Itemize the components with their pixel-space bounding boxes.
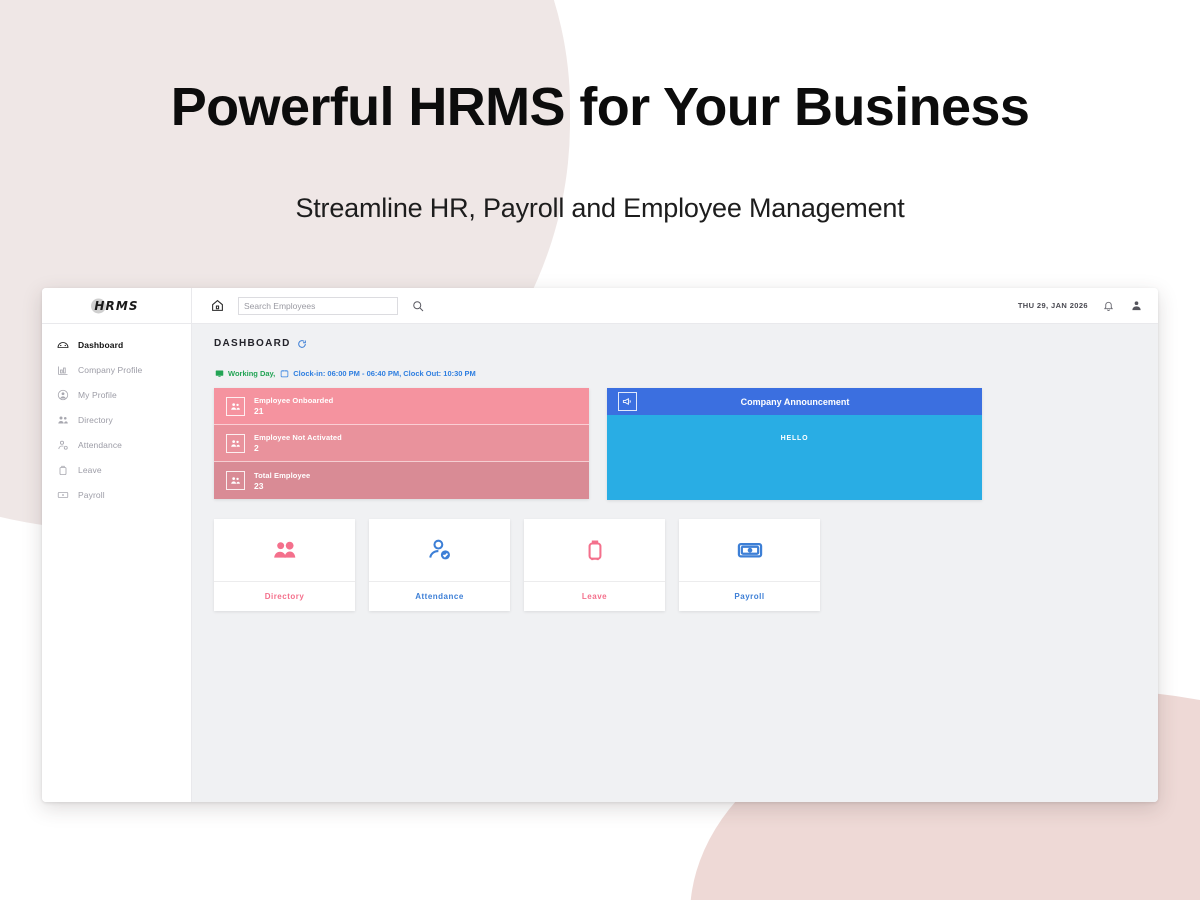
sidebar-item-leave[interactable]: Leave xyxy=(42,457,191,482)
stat-value: 23 xyxy=(254,481,310,491)
sidebar-label: Dashboard xyxy=(78,340,123,350)
announcement-text: HELLO xyxy=(781,435,809,442)
tile-directory[interactable]: Directory xyxy=(214,519,355,611)
app-window: HRMS Search Employees THU xyxy=(42,288,1158,802)
user-check-icon xyxy=(369,519,510,581)
stats-panel: Employee Onboarded 21 xyxy=(214,388,589,499)
sidebar-label: Directory xyxy=(78,415,113,425)
sidebar-label: Attendance xyxy=(78,440,122,450)
megaphone-icon xyxy=(618,392,637,411)
dashboard-header: DASHBOARD xyxy=(214,338,1136,349)
brand-logo[interactable]: HRMS xyxy=(42,288,192,323)
people-icon xyxy=(56,413,69,426)
main-content: DASHBOARD Working Day, xyxy=(192,324,1158,802)
current-date: THU 29, JAN 2026 xyxy=(1018,301,1088,310)
tile-label: Payroll xyxy=(679,581,820,611)
panels-row: Employee Onboarded 21 xyxy=(214,388,1136,500)
people-icon xyxy=(214,519,355,581)
sidebar: Dashboard Company Profile xyxy=(42,324,192,802)
suitcase-icon xyxy=(524,519,665,581)
people-icon xyxy=(226,397,245,416)
announcement-header: Company Announcement xyxy=(607,388,982,415)
stat-label: Employee Onboarded xyxy=(254,396,333,405)
suitcase-icon xyxy=(56,463,69,476)
bell-icon[interactable] xyxy=(1100,298,1116,314)
quick-links: Directory Attendance xyxy=(214,519,1136,611)
sidebar-item-company-profile[interactable]: Company Profile xyxy=(42,357,191,382)
tile-label: Attendance xyxy=(369,581,510,611)
page-root: Powerful HRMS for Your Business Streamli… xyxy=(0,0,1200,900)
avatar[interactable] xyxy=(1128,298,1144,314)
sidebar-item-attendance[interactable]: Attendance xyxy=(42,432,191,457)
bar-chart-icon xyxy=(56,363,69,376)
sidebar-label: My Profile xyxy=(78,390,117,400)
dashboard-title: DASHBOARD xyxy=(214,338,291,349)
sidebar-item-dashboard[interactable]: Dashboard xyxy=(42,332,191,357)
tile-leave[interactable]: Leave xyxy=(524,519,665,611)
stat-row[interactable]: Employee Onboarded 21 xyxy=(214,388,589,425)
sidebar-item-payroll[interactable]: Payroll xyxy=(42,482,191,507)
speedometer-icon xyxy=(56,338,69,351)
working-day-text: Working Day, xyxy=(228,369,275,378)
clock-text: Clock-in: 06:00 PM - 06:40 PM, Clock Out… xyxy=(293,369,476,378)
search-icon[interactable] xyxy=(410,298,426,314)
announcement-title: Company Announcement xyxy=(649,397,971,407)
page-title: Powerful HRMS for Your Business xyxy=(0,78,1200,137)
sidebar-label: Payroll xyxy=(78,490,105,500)
tile-label: Directory xyxy=(214,581,355,611)
people-icon xyxy=(226,434,245,453)
sidebar-item-my-profile[interactable]: My Profile xyxy=(42,382,191,407)
search-placeholder: Search Employees xyxy=(244,301,315,311)
search-input[interactable]: Search Employees xyxy=(238,297,398,315)
announcement-body: HELLO xyxy=(607,415,982,500)
stat-value: 2 xyxy=(254,443,342,453)
stat-label: Total Employee xyxy=(254,471,310,480)
status-line: Working Day, Clock-in: 06:00 PM - 06:40 … xyxy=(214,368,1136,378)
user-gear-icon xyxy=(56,438,69,451)
home-icon[interactable] xyxy=(208,297,226,315)
money-icon xyxy=(679,519,820,581)
monitor-icon xyxy=(214,368,224,378)
app-topbar: HRMS Search Employees THU xyxy=(42,288,1158,324)
announcement-panel: Company Announcement HELLO xyxy=(607,388,982,500)
user-circle-icon xyxy=(56,388,69,401)
stat-row[interactable]: Total Employee 23 xyxy=(214,462,589,499)
stat-label: Employee Not Activated xyxy=(254,433,342,442)
sidebar-label: Company Profile xyxy=(78,365,142,375)
page-subtitle: Streamline HR, Payroll and Employee Mana… xyxy=(0,193,1200,224)
people-icon xyxy=(226,471,245,490)
refresh-icon[interactable] xyxy=(297,338,308,349)
stat-value: 21 xyxy=(254,406,333,416)
tile-payroll[interactable]: Payroll xyxy=(679,519,820,611)
hero-section: Powerful HRMS for Your Business Streamli… xyxy=(0,0,1200,224)
tile-label: Leave xyxy=(524,581,665,611)
brand-name: HRMS xyxy=(94,299,138,313)
tile-attendance[interactable]: Attendance xyxy=(369,519,510,611)
sidebar-label: Leave xyxy=(78,465,102,475)
clock-icon xyxy=(279,368,289,378)
stat-row[interactable]: Employee Not Activated 2 xyxy=(214,425,589,462)
sidebar-item-directory[interactable]: Directory xyxy=(42,407,191,432)
money-icon xyxy=(56,488,69,501)
